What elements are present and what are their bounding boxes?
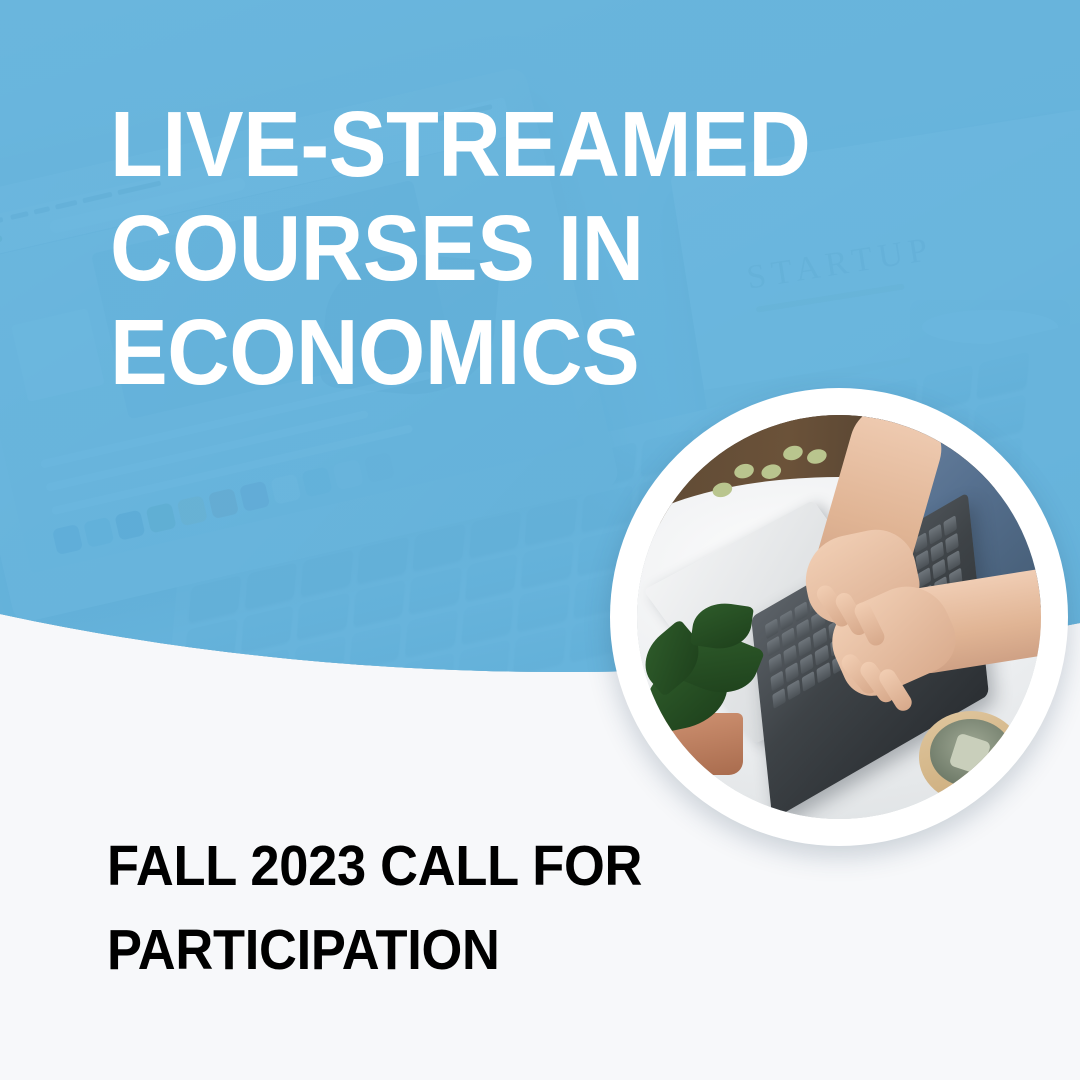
poster-canvas: STARTUP [0,0,1080,1080]
medallion-photo-frame [610,388,1068,846]
headline-line-2: COURSES IN [110,196,761,300]
subtitle: FALL 2023 CALL FOR PARTICIPATION [107,824,677,993]
page-title: LIVE-STREAMED COURSES IN ECONOMICS [110,92,761,404]
headline-line-1: LIVE-STREAMED [110,92,761,196]
subhead-line-1: FALL 2023 CALL FOR [107,824,677,908]
tea-cup [919,711,1023,803]
hands-typing-laptop-photo [637,415,1041,819]
headline-line-3: ECONOMICS [110,300,761,404]
subhead-line-2: PARTICIPATION [107,908,677,992]
